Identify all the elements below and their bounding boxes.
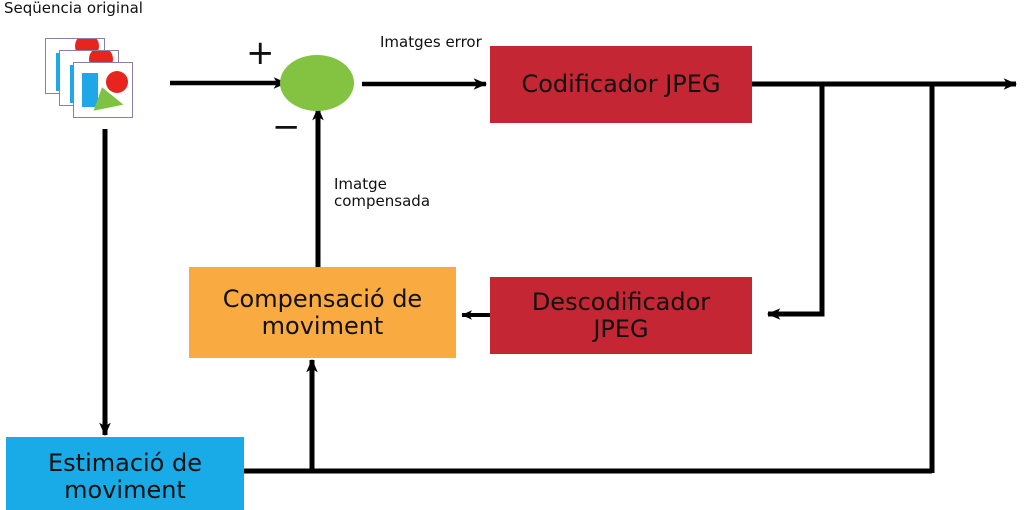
original-sequence-caption: Seqüencia original <box>4 0 143 17</box>
plus-sign-label: + <box>246 36 275 70</box>
decoder-block[interactable]: Descodificador JPEG <box>490 277 752 354</box>
motion-estimation-block[interactable]: Estimació de moviment <box>6 437 244 510</box>
wire-output-tap-to-decoder <box>768 84 822 314</box>
diagram-canvas: Seqüencia original Imatges error Imatge … <box>0 0 1024 510</box>
error-images-caption: Imatges error <box>380 34 482 51</box>
encoder-block-label: Codificador JPEG <box>490 71 752 98</box>
motion-compensation-block[interactable]: Compensació de moviment <box>189 267 456 358</box>
motion-compensation-label: Compensació de moviment <box>189 286 456 340</box>
decoder-block-label: Descodificador JPEG <box>490 289 752 343</box>
minus-sign-label: − <box>272 110 301 144</box>
compensated-image-caption: Imatge compensada <box>334 176 430 211</box>
image-stack-icon <box>45 38 133 118</box>
image-frame-front <box>73 62 133 118</box>
sum-junction-node[interactable] <box>280 55 354 111</box>
motion-estimation-label: Estimació de moviment <box>6 450 244 504</box>
encoder-block[interactable]: Codificador JPEG <box>490 46 752 123</box>
